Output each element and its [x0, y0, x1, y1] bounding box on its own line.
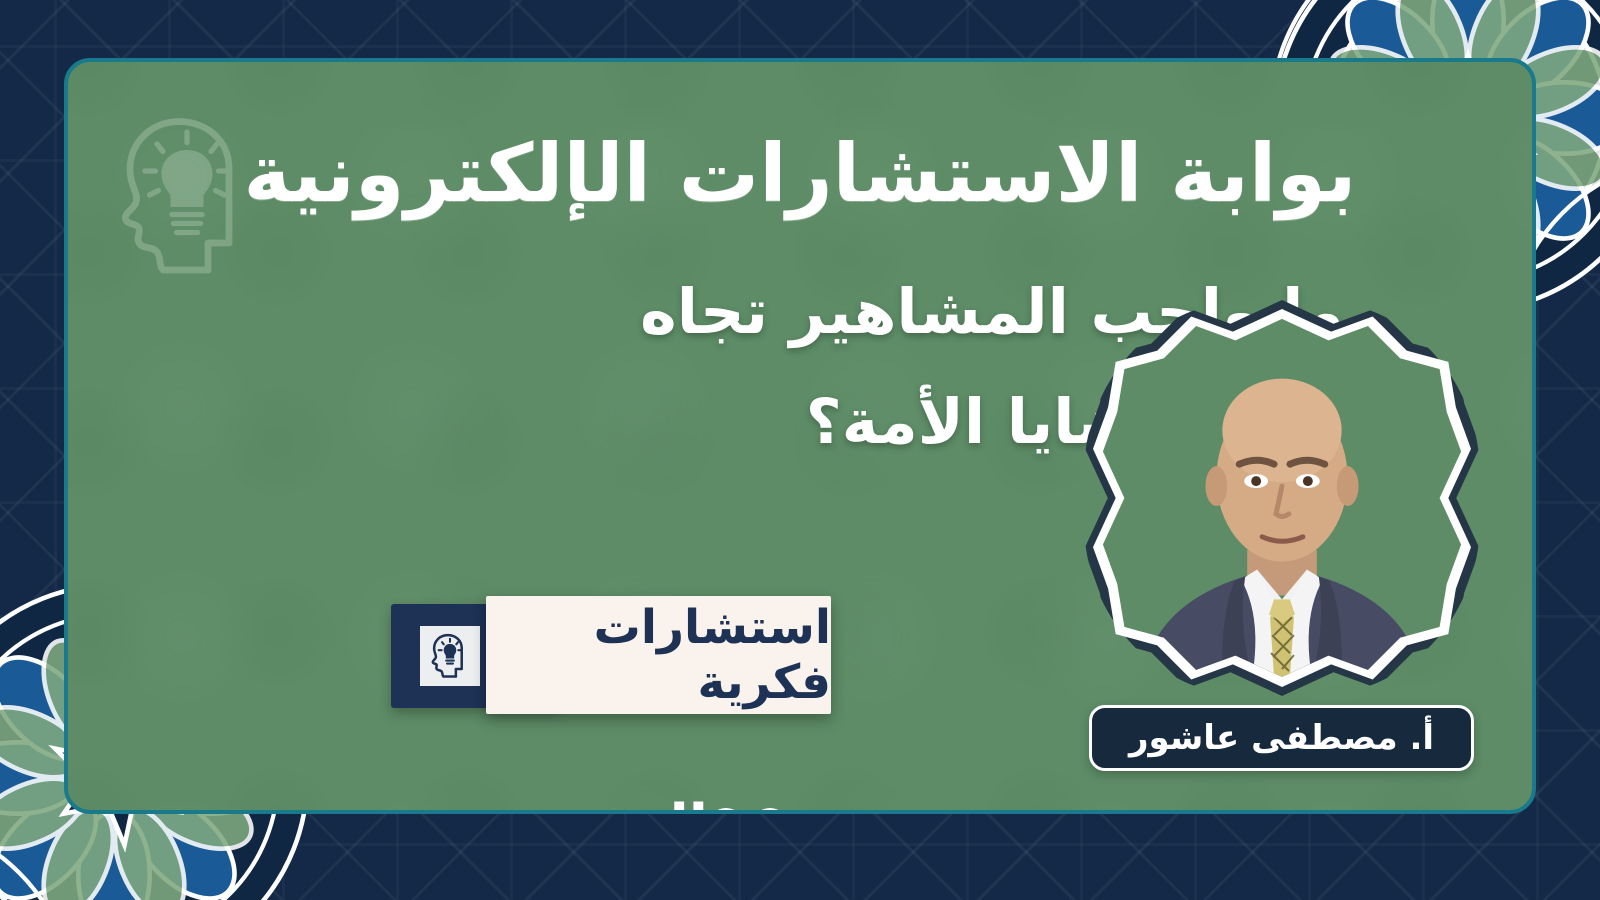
- plaque-label: استشارات فكرية: [486, 596, 831, 714]
- speaker-photo: [1103, 319, 1461, 677]
- x-twitter-icon[interactable]: [708, 808, 744, 814]
- speaker-portrait-frame: [1084, 300, 1480, 696]
- instagram-icon[interactable]: [796, 808, 832, 814]
- social-links: [708, 808, 832, 814]
- plaque-icon-tile: [420, 626, 480, 686]
- brand-logo-almujtama: المجتمع: [548, 798, 708, 814]
- head-lightbulb-icon: [428, 633, 472, 679]
- consultations-plaque: استشارات فكرية: [391, 596, 831, 714]
- footer-bar: المجتمع: [548, 780, 1168, 814]
- poster-canvas: بوابة الاستشارات الإلكترونية ما واجب الم…: [0, 0, 1600, 900]
- main-card: بوابة الاستشارات الإلكترونية ما واجب الم…: [64, 58, 1536, 814]
- speaker-photo-illustration: [1103, 319, 1461, 677]
- facebook-icon[interactable]: [752, 808, 788, 814]
- site-title-calligraphy: بوابة الاستشارات الإلكترونية: [68, 124, 1532, 224]
- speaker-name-badge: أ. مصطفى عاشور: [1089, 705, 1474, 771]
- website-url[interactable]: www.istsharat.net: [854, 809, 1175, 815]
